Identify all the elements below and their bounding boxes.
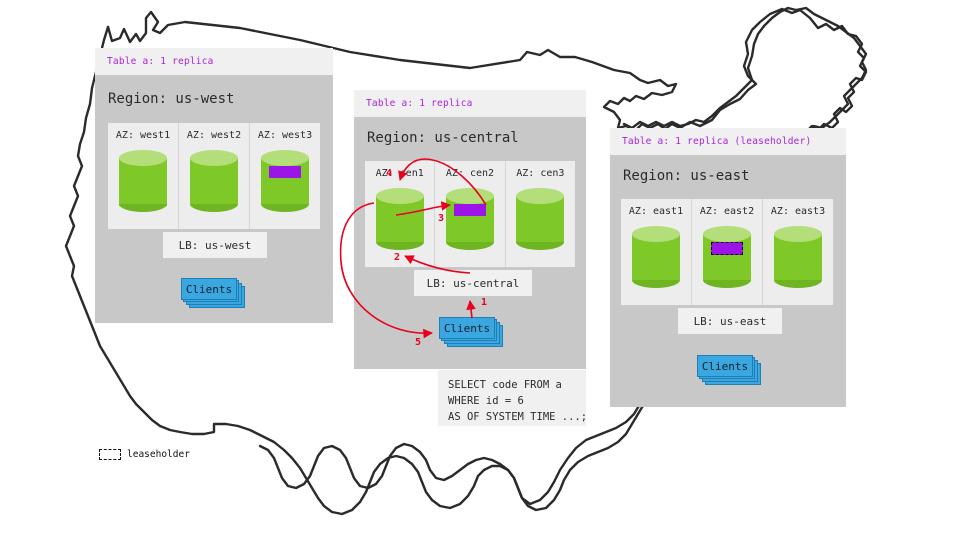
- replica-block-cen2[interactable]: [454, 204, 486, 216]
- az-label: AZ: east2: [700, 206, 754, 217]
- node-cylinder-west2[interactable]: [190, 150, 238, 212]
- clients-label: Clients: [439, 317, 495, 339]
- region-header-us-east: Table a: 1 replica (leaseholder): [610, 128, 846, 155]
- az-label: AZ: cen2: [446, 168, 494, 179]
- az-east2[interactable]: AZ: east2: [691, 199, 762, 305]
- region-panel-us-west: Table a: 1 replica Region: us-west AZ: w…: [95, 75, 333, 323]
- az-strip-us-east: AZ: east1 AZ: east2 AZ: east3: [621, 199, 833, 305]
- load-balancer-us-east[interactable]: LB: us-east: [678, 308, 782, 334]
- clients-stack-us-east[interactable]: Clients: [697, 355, 763, 385]
- region-header-label: Table a: 1 replica: [366, 98, 473, 109]
- load-balancer-us-west[interactable]: LB: us-west: [163, 232, 267, 258]
- node-cylinder-east1[interactable]: [632, 226, 680, 288]
- legend: leaseholder: [99, 449, 190, 460]
- node-cylinder-cen2[interactable]: [446, 188, 494, 250]
- region-header-us-central: Table a: 1 replica: [354, 90, 586, 117]
- region-header-label: Table a: 1 replica (leaseholder): [622, 136, 811, 147]
- node-cylinder-east2[interactable]: [703, 226, 751, 288]
- clients-stack-us-west[interactable]: Clients: [181, 278, 247, 308]
- clients-label: Clients: [697, 355, 753, 377]
- node-cylinder-west3[interactable]: [261, 150, 309, 212]
- sql-query-box: SELECT code FROM a WHERE id = 6 AS OF SY…: [438, 370, 586, 426]
- az-label: AZ: cen1: [376, 168, 424, 179]
- flow-step-label-2: 2: [394, 252, 400, 263]
- diagram-canvas: Table a: 1 replica Region: us-west AZ: w…: [0, 0, 960, 540]
- node-cylinder-east3[interactable]: [774, 226, 822, 288]
- az-label: AZ: west3: [258, 130, 312, 141]
- flow-step-label-5: 5: [415, 337, 421, 348]
- az-label: AZ: cen3: [516, 168, 564, 179]
- leaseholder-swatch-icon: [99, 449, 121, 460]
- region-title-us-central: Region: us-central: [367, 130, 519, 146]
- flow-step-label-4: 4: [386, 168, 392, 179]
- az-label: AZ: west1: [116, 130, 170, 141]
- flow-step-label-1: 1: [481, 297, 487, 308]
- legend-label: leaseholder: [127, 449, 190, 460]
- az-east3[interactable]: AZ: east3: [762, 199, 833, 305]
- az-west1[interactable]: AZ: west1: [108, 123, 178, 229]
- region-panel-us-east: Table a: 1 replica (leaseholder) Region:…: [610, 155, 846, 407]
- az-cen2[interactable]: AZ: cen2: [434, 161, 504, 267]
- az-label: AZ: east1: [629, 206, 683, 217]
- node-cylinder-cen1[interactable]: [376, 188, 424, 250]
- az-west3[interactable]: AZ: west3: [249, 123, 320, 229]
- region-header-label: Table a: 1 replica: [107, 56, 214, 67]
- replica-block-west3[interactable]: [269, 166, 301, 178]
- region-panel-us-central: Table a: 1 replica Region: us-central AZ…: [354, 117, 586, 369]
- node-cylinder-west1[interactable]: [119, 150, 167, 212]
- replica-block-east2-leaseholder[interactable]: [711, 242, 743, 255]
- flow-step-label-3: 3: [438, 213, 444, 224]
- az-strip-us-west: AZ: west1 AZ: west2 AZ: west3: [108, 123, 320, 229]
- region-title-us-east: Region: us-east: [623, 168, 749, 184]
- region-title-us-west: Region: us-west: [108, 91, 234, 107]
- az-label: AZ: east3: [771, 206, 825, 217]
- node-cylinder-cen3[interactable]: [516, 188, 564, 250]
- az-west2[interactable]: AZ: west2: [178, 123, 249, 229]
- az-label: AZ: west2: [187, 130, 241, 141]
- clients-stack-us-central[interactable]: Clients: [439, 317, 505, 347]
- load-balancer-us-central[interactable]: LB: us-central: [414, 270, 532, 296]
- az-cen3[interactable]: AZ: cen3: [505, 161, 575, 267]
- region-header-us-west: Table a: 1 replica: [95, 48, 333, 75]
- az-east1[interactable]: AZ: east1: [621, 199, 691, 305]
- clients-label: Clients: [181, 278, 237, 300]
